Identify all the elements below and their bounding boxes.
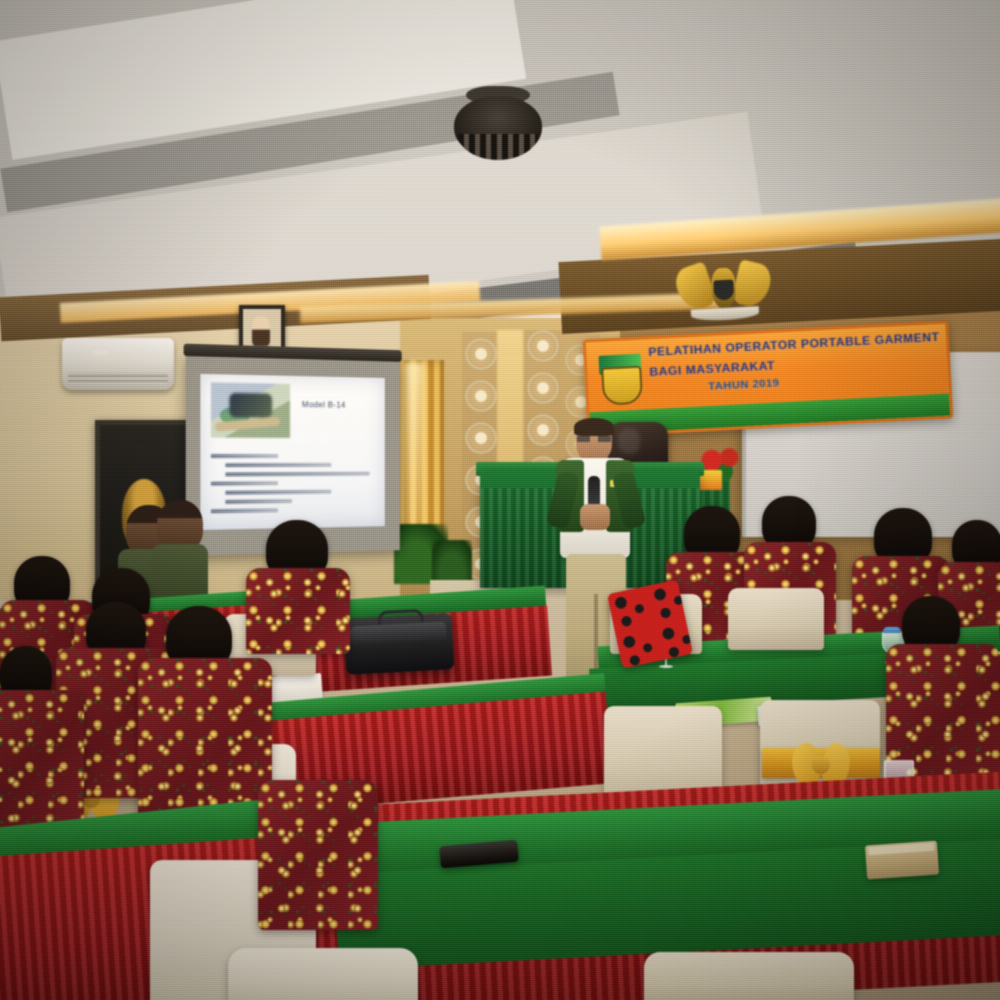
emblem-ribbon (691, 306, 760, 322)
portrait-face (252, 316, 270, 346)
logo-shield (601, 366, 643, 406)
banquet-chair (728, 588, 824, 650)
ac-display (92, 350, 108, 355)
emblem-wing-right (731, 259, 774, 310)
seminar-room-photo: Model B-14 PELATIHAN OPERATOR P (0, 0, 1000, 1000)
slide-body-text (211, 454, 376, 519)
audience-batik-shirt (258, 780, 378, 930)
banner-text-block: PELATIHAN OPERATOR PORTABLE GARMENT BAGI… (648, 330, 942, 396)
presenter-hair (574, 418, 614, 436)
kabupaten-crest-logo-icon (598, 350, 643, 404)
laptop-bag (344, 613, 455, 675)
ac-vent (68, 372, 168, 384)
covered-chair (228, 948, 418, 1000)
presenter-hands (580, 504, 610, 530)
folded-napkin (883, 627, 901, 633)
banquet-chair (644, 952, 854, 1000)
slide-photo-icon (211, 382, 290, 438)
air-conditioner-unit (62, 338, 174, 390)
slide-title: Model B-14 (302, 400, 346, 410)
ceiling-speaker-icon (452, 86, 544, 172)
eyeglasses-icon (577, 436, 611, 442)
fixture-grille (458, 134, 538, 160)
bag-flap (350, 622, 447, 645)
audience-batik-shirt (246, 568, 350, 654)
garuda-pancasila-emblem-icon (674, 256, 774, 333)
audience-batik-shirt (0, 690, 84, 830)
projected-slide: Model B-14 (200, 374, 384, 530)
polka-dot-bag (607, 579, 693, 668)
napkin-box (865, 841, 939, 880)
